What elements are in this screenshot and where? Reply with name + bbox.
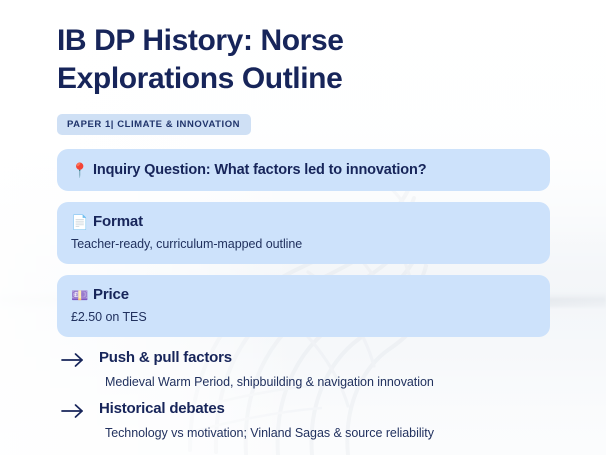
info-card-subtext: Teacher-ready, curriculum-mapped outline <box>71 236 536 252</box>
page-title-line-1: IB DP History: Norse <box>57 22 477 60</box>
list-item-title: Historical debates <box>99 400 557 418</box>
list-item: Push & pull factors Medieval Warm Period… <box>57 349 557 390</box>
slide-content: IB DP History: Norse Explorations Outlin… <box>0 0 606 455</box>
info-card-heading-row: 📍 Inquiry Question: What factors led to … <box>71 161 536 179</box>
info-card-heading: Price <box>93 286 129 305</box>
info-card-subtext: £2.50 on TES <box>71 309 536 325</box>
badge-row: PAPER 1| CLIMATE & INNOVATION <box>57 114 606 135</box>
info-card-heading: Format <box>93 213 143 232</box>
round-pushpin-emoji: 📍 <box>71 163 86 177</box>
arrow-right-icon <box>60 351 86 369</box>
info-card-heading: Inquiry Question: What factors led to in… <box>93 161 426 179</box>
list-item-title: Push & pull factors <box>99 349 557 367</box>
slide-canvas: IB DP History: Norse Explorations Outlin… <box>0 0 606 455</box>
page-title-line-2: Explorations Outline <box>57 60 477 98</box>
info-card-price: 💷 Price £2.50 on TES <box>57 275 550 337</box>
info-card-heading-row: 💷 Price <box>71 286 536 305</box>
arrow-right-icon <box>60 402 86 420</box>
info-card-inquiry-question: 📍 Inquiry Question: What factors led to … <box>57 149 550 191</box>
pound-banknote-emoji: 💷 <box>71 288 86 302</box>
info-card-format: 📄 Format Teacher-ready, curriculum-mappe… <box>57 202 550 264</box>
info-card-list: 📍 Inquiry Question: What factors led to … <box>0 149 606 337</box>
list-item-subtext: Technology vs motivation; Vinland Sagas … <box>99 425 557 441</box>
page-facing-up-emoji: 📄 <box>71 215 86 229</box>
status-badge: PAPER 1| CLIMATE & INNOVATION <box>57 114 251 135</box>
page-title: IB DP History: Norse Explorations Outlin… <box>57 22 477 98</box>
list-item-subtext: Medieval Warm Period, shipbuilding & nav… <box>99 374 557 390</box>
info-card-heading-row: 📄 Format <box>71 213 536 232</box>
bullet-list: Push & pull factors Medieval Warm Period… <box>0 349 606 442</box>
list-item: Historical debates Technology vs motivat… <box>57 400 557 441</box>
